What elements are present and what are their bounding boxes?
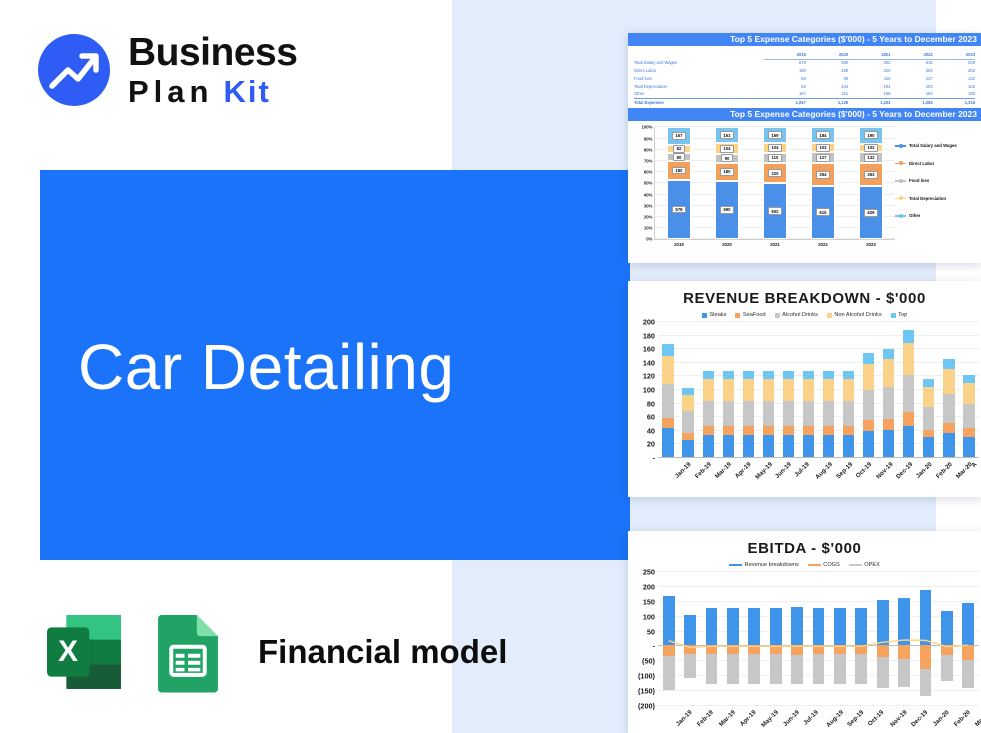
bar-segment: 110 — [763, 153, 788, 163]
expense-cell: 254 — [890, 67, 932, 75]
y-axis-tick: (100) — [638, 672, 655, 681]
legend-item: Alcohol Drinks — [775, 312, 818, 318]
bar-segment — [803, 401, 814, 427]
expense-cell: 90 — [806, 75, 848, 83]
x-axis-tick: 2019 — [674, 242, 684, 247]
x-axis-tick: Jan-20 — [915, 461, 934, 480]
expense-cell: 615 — [890, 59, 932, 67]
bar-segment — [703, 401, 714, 427]
legend-item: COGS — [808, 562, 840, 568]
y-axis-tick: 140 — [643, 358, 655, 367]
expense-total-cell: 1,316 — [933, 99, 975, 108]
bar-segment — [803, 379, 814, 400]
bar-value-label: 602 — [768, 207, 782, 215]
bar-segment — [743, 379, 754, 400]
brand-word-plan: Plan — [128, 74, 213, 109]
bar-segment — [682, 388, 693, 395]
bar-segment — [943, 369, 954, 394]
bar-segment — [723, 371, 734, 379]
bar-segment — [863, 390, 874, 420]
expense-cell: 169 — [848, 91, 890, 99]
bar-segment: 103 — [811, 143, 836, 152]
bar-segment: 180 — [715, 163, 740, 181]
legend-label: Direct Labor — [909, 161, 934, 166]
y-axis-tick: (50) — [642, 657, 655, 666]
bar-segment: 169 — [763, 127, 788, 143]
y-axis-tick: 160 — [643, 345, 655, 354]
x-axis-tick: Apr-19 — [734, 461, 753, 480]
x-axis-tick: May-19 — [754, 461, 774, 481]
legend-label: Top — [898, 312, 907, 318]
bar-segment — [763, 435, 774, 457]
bar-segment — [662, 418, 673, 429]
brand-line-business: Business — [128, 33, 297, 72]
y-axis-tick: 90% — [644, 136, 653, 141]
bar-value-label: 180 — [672, 167, 686, 175]
bar-segment — [703, 426, 714, 435]
brand-logo: Business PlanKit — [38, 33, 297, 107]
bar-segment — [943, 394, 954, 423]
expense-chart-legend: Total Salary and WagesDirect LaborFood l… — [895, 143, 977, 218]
expense-cell: 180 — [764, 67, 806, 75]
legend-item: Revenue breakdowns — [729, 562, 799, 568]
legend-label: COGS — [823, 562, 839, 568]
bar-value-label: 104 — [768, 144, 782, 152]
x-axis-tick: Mar-19 — [717, 709, 736, 728]
x-axis-tick: Sep-19 — [834, 461, 853, 480]
legend-label: Other — [909, 213, 920, 218]
expense-cell: 104 — [806, 83, 848, 91]
x-axis-tick: Mar-19 — [714, 461, 733, 480]
bar-segment — [823, 401, 834, 426]
bar-segment: 254 — [811, 163, 836, 185]
bar-segment: 104 — [763, 143, 788, 153]
expense-cell: 132 — [933, 75, 975, 83]
bar-value-label: 578 — [672, 206, 686, 214]
expense-cell: 104 — [848, 83, 890, 91]
table-row: Food loss8090110127132 — [634, 75, 975, 83]
bar-segment: 615 — [811, 186, 836, 240]
expense-total-cell: 1,067 — [764, 99, 806, 108]
bar-segment — [943, 433, 954, 457]
bar-segment — [763, 371, 774, 379]
y-axis-tick: 20% — [644, 214, 653, 219]
stacked-bar — [723, 321, 734, 457]
bar-segment — [743, 371, 754, 379]
legend-item: Total Depreciation — [895, 196, 977, 201]
x-axis-tick: 2020 — [722, 242, 732, 247]
expense-total-cell: 1,125 — [806, 99, 848, 108]
bar-segment — [963, 437, 974, 457]
y-axis-tick: 80 — [647, 399, 655, 408]
bar-segment — [662, 384, 673, 418]
bar-value-label: 102 — [864, 144, 878, 152]
stacked-bar — [863, 321, 874, 457]
legend-swatch — [895, 198, 906, 200]
bar-segment — [783, 379, 794, 400]
y-axis-tick: 60% — [644, 170, 653, 175]
revenue-chart-title: REVENUE BREAKDOWN - $'000 — [628, 281, 981, 307]
bar-segment — [783, 435, 794, 457]
y-axis-tick: 50% — [644, 181, 653, 186]
expense-row-label: Total Depreciation — [634, 83, 764, 91]
stacked-bar — [883, 321, 894, 457]
x-axis-tick: Oct-19 — [867, 709, 886, 728]
x-axis-tick: Aug-19 — [815, 461, 835, 481]
expense-row-label: Other — [634, 91, 764, 99]
expense-cell: 263 — [933, 67, 975, 75]
x-axis-tick: Dec-19 — [895, 461, 914, 480]
ebitda-chart-title: EBITDA - $'000 — [628, 531, 981, 557]
bar-value-label: 615 — [816, 208, 830, 216]
format-badges: X Financial model — [40, 608, 507, 696]
table-row: Total Salary and Wages578590602615629 — [634, 59, 975, 67]
expense-cell: 184 — [890, 91, 932, 99]
y-axis-tick: 30% — [644, 203, 653, 208]
bar-segment — [923, 437, 934, 457]
bar-segment: 82 — [667, 145, 692, 153]
bar-value-label: 169 — [768, 131, 782, 139]
x-axis-tick: Feb-20 — [935, 461, 954, 480]
expense-col-header: 2021 — [848, 51, 890, 59]
x-axis-tick: Feb-20 — [953, 709, 972, 728]
expense-cell: 127 — [890, 75, 932, 83]
y-axis-tick: (150) — [638, 687, 655, 696]
page-title: Car Detailing — [78, 330, 454, 404]
expense-cell: 590 — [806, 59, 848, 67]
ebitda-chart-legend: Revenue breakdownsCOGSOPEX — [628, 562, 981, 568]
bar-segment — [763, 426, 774, 435]
x-axis-tick: May-19 — [760, 709, 780, 729]
bar-segment — [923, 379, 934, 386]
bar-segment — [863, 364, 874, 390]
legend-label: Steaks — [709, 312, 726, 318]
zero-axis — [658, 457, 979, 458]
bar-segment — [963, 383, 974, 404]
legend-label: SeaFood — [743, 312, 766, 318]
bar-segment — [823, 371, 834, 379]
bar-value-label: 104 — [720, 145, 734, 153]
expense-row-label: Food loss — [634, 75, 764, 83]
bar-segment — [903, 343, 914, 375]
bar-segment — [743, 435, 754, 457]
x-axis-tick: Jan-20 — [931, 709, 950, 728]
y-axis-tick: 100 — [643, 386, 655, 395]
x-axis-tick: Feb-19 — [694, 461, 713, 480]
table-row: Total Depreciation82104104103102 — [634, 83, 975, 91]
bar-segment — [803, 435, 814, 457]
revenue-chart-legend: SteaksSeaFoodAlcohol DrinksNon Alcohol D… — [628, 312, 981, 318]
stacked-bar: 16782801805782019 — [667, 127, 692, 239]
y-axis-tick: 50 — [647, 627, 655, 636]
stacked-bar — [763, 321, 774, 457]
x-axis-tick: Jan-19 — [674, 709, 693, 728]
bar-segment — [943, 359, 954, 369]
bar-value-label: 220 — [768, 169, 782, 177]
gridline: (200) — [658, 705, 979, 706]
bar-segment: 167 — [667, 127, 692, 144]
expense-col-header — [634, 51, 764, 59]
bar-segment — [963, 428, 974, 436]
y-axis-tick: 80% — [644, 147, 653, 152]
bar-value-label: 127 — [816, 154, 830, 162]
bar-segment: 263 — [859, 163, 884, 185]
x-axis-tick: Sep-19 — [846, 709, 865, 728]
stacked-bar — [783, 321, 794, 457]
bar-segment — [943, 423, 954, 433]
bar-segment — [963, 404, 974, 428]
table-row-total: Total Expenses1,0671,1251,2041,2841,316 — [634, 99, 975, 108]
legend-item: Non Alcohol Drinks — [827, 312, 882, 318]
bar-segment: 590 — [715, 181, 740, 240]
ebitda-plot-area: (200)(150)(100)(50)-50100150200250Jan-19… — [628, 571, 981, 733]
y-axis-tick: 0% — [646, 237, 652, 242]
expense-total-cell: 1,284 — [890, 99, 932, 108]
legend-label: Alcohol Drinks — [782, 312, 818, 318]
legend-swatch — [891, 313, 896, 318]
bar-segment — [843, 401, 854, 427]
legend-item: Steaks — [702, 312, 727, 318]
bar-segment — [863, 353, 874, 364]
y-axis-tick: 60 — [647, 413, 655, 422]
expense-cell: 167 — [764, 91, 806, 99]
legend-item: Top — [891, 312, 908, 318]
bar-segment — [662, 428, 673, 457]
legend-item: Other — [895, 213, 977, 218]
bar-segment — [682, 440, 693, 457]
bar-segment: 180 — [667, 161, 692, 180]
x-axis-tick: Jul-19 — [802, 709, 820, 727]
x-axis-tick: Mar-20 — [974, 709, 981, 728]
legend-label: Food loss — [909, 178, 929, 183]
stacked-bar — [703, 321, 714, 457]
expense-cell: 220 — [848, 67, 890, 75]
expense-row-label: Direct Labor — [634, 67, 764, 75]
expense-col-header: 2019 — [764, 51, 806, 59]
bar-segment — [883, 359, 894, 387]
stacked-bar — [843, 321, 854, 457]
bar-segment — [843, 371, 854, 379]
bar-segment — [763, 401, 774, 427]
bar-segment — [783, 371, 794, 379]
x-axis-tick: Nov-19 — [875, 461, 895, 481]
svg-text:X: X — [58, 635, 78, 668]
bar-segment — [963, 375, 974, 383]
expense-cell: 82 — [764, 83, 806, 91]
legend-swatch — [702, 313, 707, 318]
bar-value-label: 590 — [720, 206, 734, 214]
stacked-bar — [743, 321, 754, 457]
bar-segment — [883, 387, 894, 419]
bar-value-label: 254 — [816, 171, 830, 179]
stacked-bar — [682, 321, 693, 457]
expense-col-header: 2022 — [890, 51, 932, 59]
y-axis-tick: 100% — [642, 125, 653, 130]
bar-segment — [803, 371, 814, 379]
bar-segment — [903, 426, 914, 457]
format-label: Financial model — [258, 633, 507, 671]
expense-percent-chart: 0%10%20%30%40%50%60%70%80%90%100%1678280… — [628, 121, 981, 256]
bar-value-label: 184 — [816, 131, 830, 139]
bar-segment — [823, 426, 834, 435]
stacked-bar: 161104901805902020 — [715, 127, 740, 239]
bar-segment — [863, 431, 874, 457]
bar-segment: 132 — [859, 152, 884, 163]
x-axis-tick: Jun-19 — [782, 709, 801, 728]
bar-segment — [923, 407, 934, 430]
stacked-bar — [963, 321, 974, 457]
expense-table-title: Top 5 Expense Categories ($'000) - 5 Yea… — [628, 33, 981, 46]
brand-word-kit: Kit — [223, 74, 270, 109]
y-axis-tick: - — [653, 642, 655, 651]
revenue-plot-area: -20406080100120140160180200Jan-19Feb-19M… — [628, 321, 981, 491]
google-sheets-icon — [144, 608, 232, 696]
revenue-breakdown-card: REVENUE BREAKDOWN - $'000 SteaksSeaFoodA… — [628, 281, 981, 497]
y-axis-tick: 250 — [643, 568, 655, 577]
bar-segment — [743, 401, 754, 427]
legend-label: Non Alcohol Drinks — [834, 312, 881, 318]
bar-value-label: 263 — [864, 171, 878, 179]
y-axis-tick: 200 — [643, 582, 655, 591]
bar-segment — [723, 401, 734, 427]
x-axis-tick: Oct-19 — [854, 461, 873, 480]
ebitda-trend-line — [658, 571, 979, 705]
expense-categories-card: Top 5 Expense Categories ($'000) - 5 Yea… — [628, 33, 981, 263]
bar-value-label: 80 — [673, 153, 685, 161]
bar-segment — [783, 401, 794, 427]
legend-swatch — [895, 180, 906, 182]
x-axis-tick: Dec-19 — [910, 709, 929, 728]
stacked-bar: 1901021322636292023 — [859, 127, 884, 239]
y-axis-tick: 10% — [644, 226, 653, 231]
bar-segment — [743, 426, 754, 435]
bar-segment — [662, 344, 673, 356]
x-axis-tick: 2023 — [866, 242, 876, 247]
y-axis-tick: 150 — [643, 597, 655, 606]
bar-segment — [903, 330, 914, 343]
bar-segment: 102 — [859, 144, 884, 153]
y-axis-tick: - — [653, 454, 655, 463]
expense-cell: 103 — [890, 83, 932, 91]
growth-arrow-chart-icon — [38, 34, 110, 106]
bar-segment — [823, 379, 834, 401]
expense-cell: 161 — [806, 91, 848, 99]
bar-segment — [682, 433, 693, 440]
expense-col-header: 2020 — [806, 51, 848, 59]
legend-swatch — [729, 564, 742, 566]
bar-segment: 602 — [763, 183, 788, 239]
y-axis-tick: 40 — [647, 426, 655, 435]
legend-item: Food loss — [895, 178, 977, 183]
legend-label: Revenue breakdowns — [745, 562, 799, 568]
stacked-bar: 1841031272546152022 — [811, 127, 836, 239]
expense-cell: 180 — [806, 67, 848, 75]
microsoft-excel-icon: X — [40, 608, 128, 696]
x-axis-tick: Jun-19 — [774, 461, 793, 480]
bar-segment — [883, 419, 894, 430]
stacked-bar — [662, 321, 673, 457]
expense-cell: 102 — [933, 83, 975, 91]
bar-segment — [783, 426, 794, 435]
bar-segment — [903, 412, 914, 426]
bar-value-label: 110 — [768, 154, 782, 162]
y-axis-tick: 70% — [644, 158, 653, 163]
bar-segment: 578 — [667, 180, 692, 240]
expense-cell: 578 — [764, 59, 806, 67]
x-axis-tick: Jul-19 — [794, 461, 812, 479]
bar-segment — [863, 420, 874, 432]
expense-cell: 602 — [848, 59, 890, 67]
bar-segment — [843, 379, 854, 400]
legend-swatch — [735, 313, 740, 318]
legend-item: Direct Labor — [895, 161, 977, 166]
bar-segment — [723, 426, 734, 435]
bar-segment — [682, 411, 693, 432]
brand-wordmark: Business PlanKit — [128, 33, 297, 107]
bar-segment — [903, 375, 914, 412]
x-axis-tick: 2022 — [818, 242, 828, 247]
stacked-bar — [803, 321, 814, 457]
bar-segment — [923, 430, 934, 437]
bar-segment — [843, 426, 854, 435]
legend-label: OPEX — [864, 562, 880, 568]
y-axis-tick: 120 — [643, 372, 655, 381]
bar-segment — [843, 435, 854, 457]
legend-label: Total Depreciation — [909, 196, 946, 201]
expense-row-label: Total Salary and Wages — [634, 59, 764, 67]
bar-segment: 90 — [715, 154, 740, 163]
legend-label: Total Salary and Wages — [909, 143, 957, 148]
bar-segment — [923, 387, 934, 407]
legend-swatch — [895, 145, 906, 147]
bar-segment: 104 — [715, 143, 740, 153]
bar-segment — [703, 379, 714, 400]
x-axis-tick: Aug-19 — [825, 709, 845, 729]
expense-plot-area: 0%10%20%30%40%50%60%70%80%90%100%1678280… — [654, 127, 895, 240]
bar-segment — [703, 371, 714, 379]
bar-segment — [883, 430, 894, 457]
x-axis-tick: Feb-19 — [696, 709, 715, 728]
legend-swatch — [808, 564, 821, 566]
y-axis-tick: 200 — [643, 318, 655, 327]
bar-segment — [662, 356, 673, 384]
bar-value-label: 90 — [721, 154, 733, 162]
legend-swatch — [775, 313, 780, 318]
bar-segment: 127 — [811, 152, 836, 163]
ebitda-card: EBITDA - $'000 Revenue breakdownsCOGSOPE… — [628, 531, 981, 733]
bar-value-label: 82 — [673, 145, 685, 153]
legend-swatch — [849, 564, 862, 566]
table-row: Direct Labor180180220254263 — [634, 67, 975, 75]
expense-total-label: Total Expenses — [634, 99, 764, 108]
x-axis-tick: Apr-19 — [739, 709, 758, 728]
stacked-bar — [903, 321, 914, 457]
bar-segment — [763, 379, 774, 400]
expense-col-header: 2023 — [933, 51, 975, 59]
legend-swatch — [895, 215, 906, 217]
y-axis-tick: (200) — [638, 702, 655, 711]
stacked-bar — [823, 321, 834, 457]
x-axis-tick: 2021 — [770, 242, 780, 247]
legend-swatch — [895, 163, 906, 165]
expense-cell: 190 — [933, 91, 975, 99]
bar-value-label: 629 — [864, 209, 878, 217]
legend-swatch — [827, 313, 832, 318]
expense-summary-table: 20192020202120222023Total Salary and Wag… — [628, 46, 981, 108]
bar-segment: 220 — [763, 163, 788, 183]
bar-segment — [703, 435, 714, 457]
bar-segment — [803, 426, 814, 435]
